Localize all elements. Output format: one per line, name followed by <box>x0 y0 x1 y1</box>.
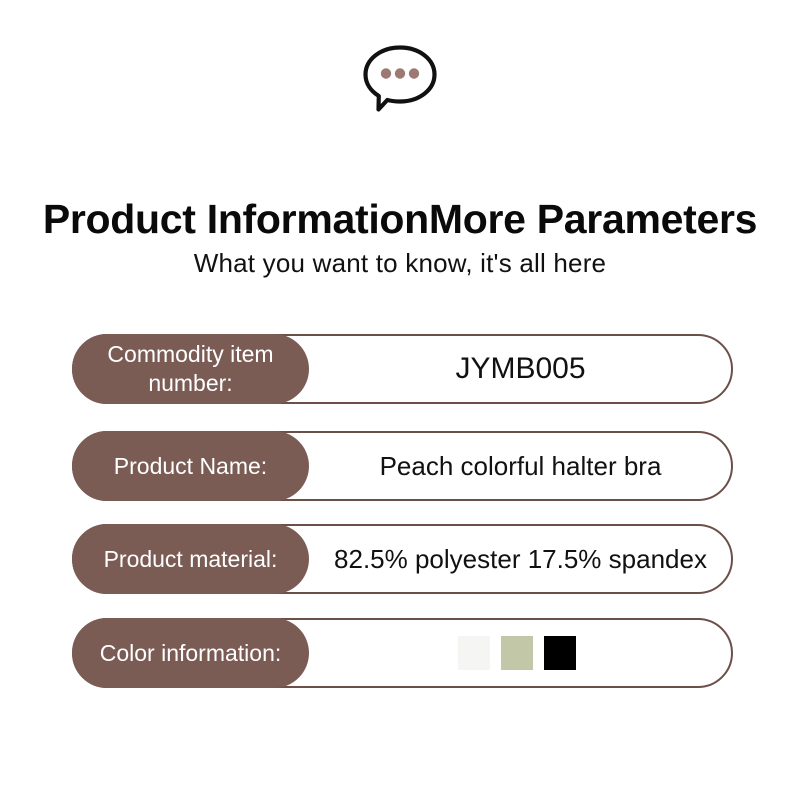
spec-label: Product Name: <box>114 452 267 481</box>
spec-row-commodity-item-number: JYMB005 Commodity item number: <box>72 334 733 404</box>
spec-label: Commodity item number: <box>86 340 295 398</box>
color-swatch-sage-green[interactable] <box>501 636 533 670</box>
spec-label: Product material: <box>104 545 278 574</box>
spec-list: JYMB005 Commodity item number: Peach col… <box>0 0 800 800</box>
color-swatch-group <box>458 618 576 688</box>
color-swatch-black[interactable] <box>544 636 576 670</box>
spec-value: JYMB005 <box>455 354 585 384</box>
spec-label: Color information: <box>100 639 282 668</box>
label-pill: Product Name: <box>72 431 309 501</box>
product-info-card: Product InformationMore Parameters What … <box>0 0 800 800</box>
spec-row-product-name: Peach colorful halter bra Product Name: <box>72 431 733 501</box>
color-swatch-ivory-white[interactable] <box>458 636 490 670</box>
label-pill: Product material: <box>72 524 309 594</box>
spec-value: Peach colorful halter bra <box>380 451 662 481</box>
spec-row-product-material: 82.5% polyester 17.5% spandex Product ma… <box>72 524 733 594</box>
label-pill: Color information: <box>72 618 309 688</box>
label-pill: Commodity item number: <box>72 334 309 404</box>
spec-row-color-information: Color information: <box>72 618 733 688</box>
spec-value: 82.5% polyester 17.5% spandex <box>334 544 707 574</box>
